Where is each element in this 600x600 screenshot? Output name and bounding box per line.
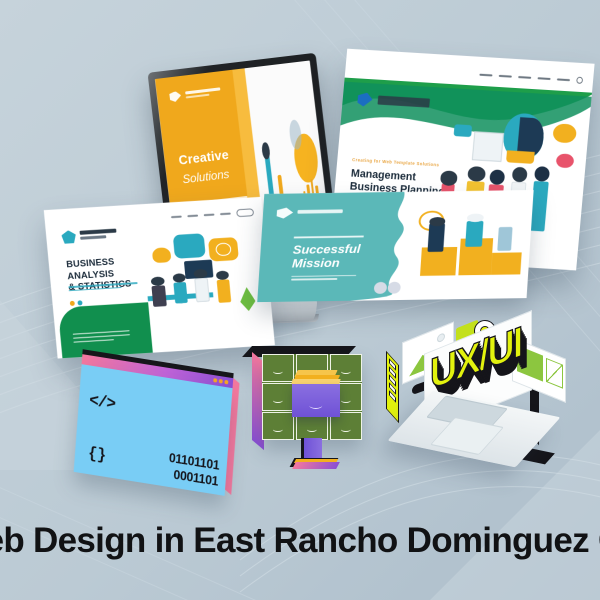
analysis-person-1-head [151, 276, 165, 286]
wireframe-placeholder-1 [546, 358, 563, 389]
analysis-person-3 [194, 278, 209, 303]
card-successful-mission: Successful Mission [257, 190, 533, 302]
analysis-plant-icon [239, 287, 256, 312]
teal-card-title-line2: Mission [292, 257, 360, 271]
left-card-logo-label-bottom [80, 235, 106, 240]
search-icon [576, 77, 583, 84]
planning-coin-icon [553, 124, 577, 144]
planning-dot-icon [555, 153, 574, 169]
green-card-logo-label [377, 96, 430, 107]
creative-accent-circle [288, 119, 303, 150]
headline-text: Web Design in East Rancho Dominguez CA [0, 521, 600, 561]
code-window-traffic-dots[interactable] [213, 378, 228, 384]
teal-card-paragraph [291, 275, 356, 283]
planning-person-5-head [534, 166, 550, 181]
left-card-navbar [171, 208, 254, 221]
left-card-cta-button[interactable] [236, 208, 254, 217]
cabinet-drawer-cell[interactable] [262, 354, 294, 382]
planning-person-2-head [467, 166, 486, 182]
analysis-chat-bubble-1 [173, 233, 206, 259]
mission-pagination-dot-2[interactable] [387, 282, 401, 294]
code-tag-icon: </> [89, 392, 116, 415]
brand-pentagon-logo [61, 230, 77, 244]
left-card-dots [70, 300, 83, 306]
planning-person-3-head [489, 170, 505, 185]
analysis-bulb-icon [152, 247, 171, 263]
sun-icon [437, 332, 445, 343]
brand-diamond-logo [357, 92, 373, 107]
cabinet-drawer-cell[interactable] [262, 383, 294, 411]
green-card-kicker: Creating for Web Template Solutions [352, 157, 439, 167]
cabinet-foot [292, 462, 340, 469]
planning-clipboard-icon [472, 131, 504, 162]
file-cabinet-database [252, 346, 402, 476]
planning-chat-icon [454, 124, 472, 137]
creative-person-head [261, 142, 270, 160]
mission-person-2 [465, 221, 483, 247]
planning-person-5 [530, 181, 549, 231]
ux-ui-laptop: UX/UI [382, 318, 582, 482]
cabinet-drawer-cell[interactable] [262, 412, 294, 440]
code-brace-icon: {} [88, 444, 107, 465]
planning-bulb-base [506, 150, 534, 164]
left-card-logo-label-top [79, 229, 116, 235]
analysis-person-1 [151, 285, 166, 307]
mission-yellow-block-3 [490, 253, 521, 275]
analysis-person-4 [216, 279, 231, 302]
mission-person-3 [497, 227, 512, 251]
brand-diamond-logo [169, 91, 182, 103]
toolbar-icon[interactable] [386, 351, 399, 423]
planning-person-4-head [512, 167, 528, 182]
mission-person-1 [427, 224, 445, 252]
code-editor-window: </> {} 01101101 0001101 [74, 354, 234, 496]
code-binary-text: 01101101 0001101 [167, 450, 220, 489]
left-card-logo [61, 226, 128, 245]
teal-card-logo-label [298, 209, 344, 214]
analysis-person-2 [173, 282, 188, 304]
hero-illustration-stage: Creative Solutions Creating for Web Temp… [0, 0, 600, 600]
teal-card-logo [276, 206, 352, 220]
page-headline: Web Design in East Rancho Dominguez CA [0, 512, 600, 570]
brand-diamond-logo [276, 208, 293, 219]
cabinet-open-drawer[interactable] [292, 384, 340, 417]
left-card-green-block [57, 302, 153, 358]
card-business-analysis-statistics: BUSINESS ANALYSIS & STATISTICS [44, 197, 275, 359]
teal-card-title: Successful Mission [292, 243, 361, 271]
